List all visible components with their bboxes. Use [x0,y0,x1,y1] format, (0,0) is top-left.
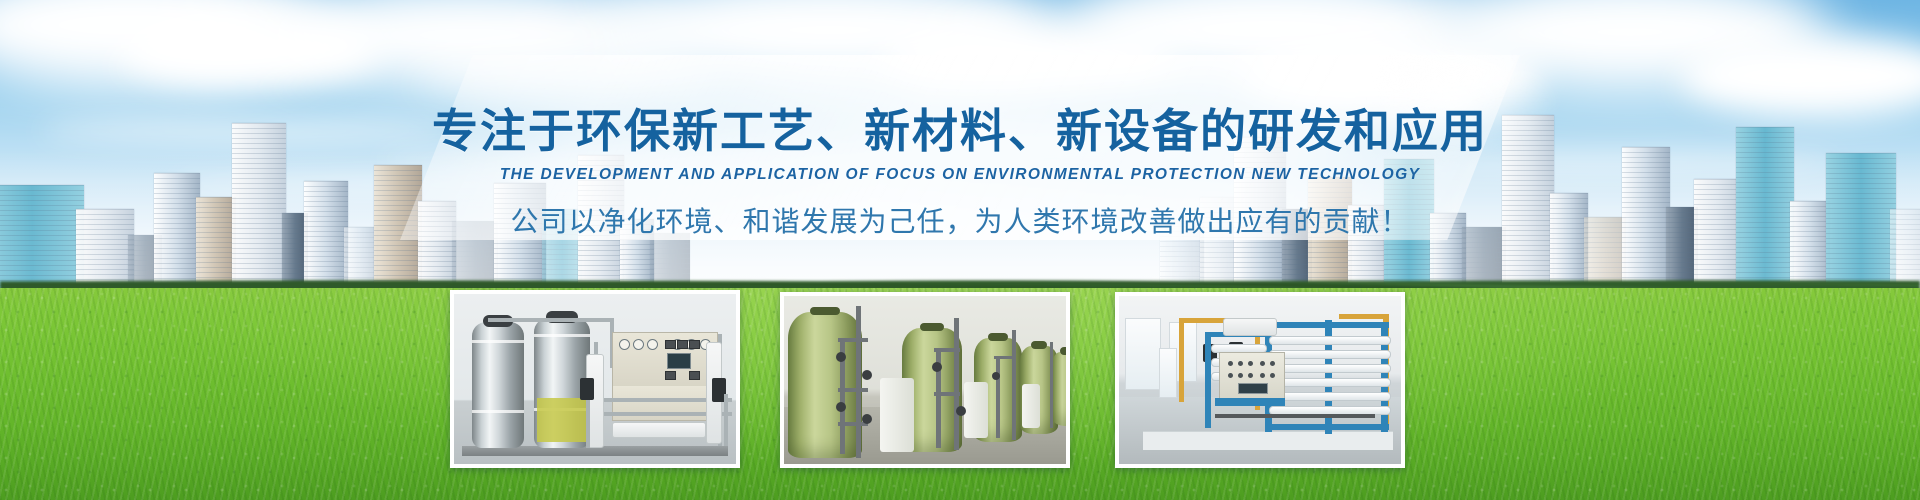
hero-banner: 专注于环保新工艺、新材料、新设备的研发和应用 THE DEVELOPMENT A… [0,0,1920,500]
banner-subheadline-english: THE DEVELOPMENT AND APPLICATION OF FOCUS… [0,166,1920,184]
photo-green-frp-filter-tank-row[interactable] [780,292,1070,468]
banner-tagline: 公司以净化环境、和谐发展为己任，为人类环境改善做出应有的贡献！ [0,200,1920,240]
banner-headline: 专注于环保新工艺、新材料、新设备的研发和应用 [0,95,1920,161]
photo-industrial-ro-membrane-system[interactable] [1115,292,1405,468]
photo-stainless-steel-water-treatment-skid[interactable] [450,290,740,468]
banner-text-block: 专注于环保新工艺、新材料、新设备的研发和应用 THE DEVELOPMENT A… [0,0,1920,250]
